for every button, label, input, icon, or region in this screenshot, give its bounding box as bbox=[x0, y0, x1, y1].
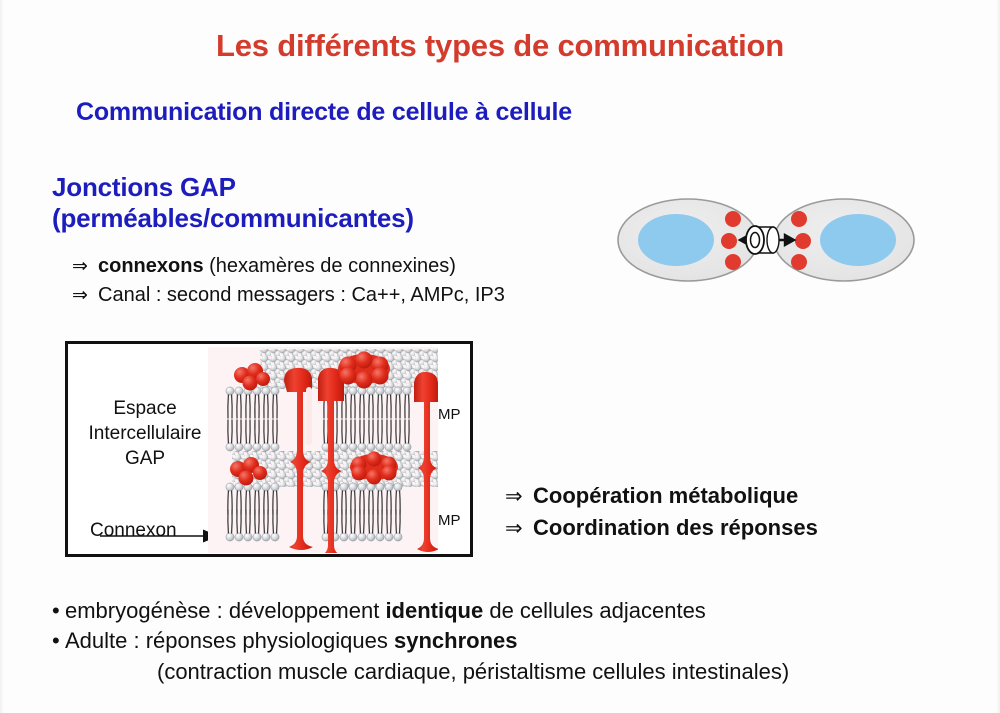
heading-line-2: (perméables/communicantes) bbox=[52, 203, 414, 234]
page-title: Les différents types de communication bbox=[0, 28, 1000, 64]
membrane-artwork-svg bbox=[208, 347, 438, 553]
page-edge-right bbox=[996, 0, 1000, 713]
gap-point-connexons: ⇒connexons (hexamères de connexines) bbox=[72, 252, 505, 281]
slide-canvas: Les différents types de communication Co… bbox=[0, 0, 1000, 713]
membrane-scene bbox=[208, 347, 438, 553]
nucleus-right bbox=[820, 214, 896, 266]
signal-molecule bbox=[721, 233, 737, 249]
bullet-icon: • bbox=[52, 626, 65, 656]
bottom-point-3: (contraction muscle cardiaque, péristalt… bbox=[52, 657, 789, 687]
signal-molecule bbox=[791, 211, 807, 227]
connexon-membrane-figure: Espace Intercellulaire GAP Connexon MP M… bbox=[65, 341, 473, 557]
conclusion-item: ⇒Coordination des réponses bbox=[505, 512, 818, 544]
nucleus-left bbox=[638, 214, 714, 266]
section-heading-jonctions-gap: Jonctions GAP (perméables/communicantes) bbox=[52, 172, 414, 233]
double-arrow-icon: ⇒ bbox=[505, 514, 533, 544]
bottom-point-1-post: de cellules adjacentes bbox=[483, 598, 706, 623]
gap-section-points: ⇒connexons (hexamères de connexines) ⇒Ca… bbox=[72, 252, 505, 310]
page-edge-left bbox=[0, 0, 4, 713]
bottom-point-embryogenese: •embryogénèse : développement identique … bbox=[52, 596, 789, 626]
page-subtitle: Communication directe de cellule à cellu… bbox=[76, 98, 572, 127]
bottom-point-2-bold: synchrones bbox=[394, 628, 518, 653]
mp-label-top: MP bbox=[438, 406, 461, 423]
bullet-icon: • bbox=[52, 596, 65, 626]
connexin-hexamer-top bbox=[338, 352, 390, 389]
signal-molecule bbox=[725, 211, 741, 227]
conclusions-list: ⇒Coopération métabolique ⇒Coordination d… bbox=[505, 480, 818, 545]
double-arrow-icon: ⇒ bbox=[505, 482, 533, 512]
two-cells-figure bbox=[616, 186, 916, 294]
double-arrow-icon: ⇒ bbox=[72, 254, 98, 281]
heading-line-1: Jonctions GAP bbox=[52, 172, 414, 203]
double-arrow-icon: ⇒ bbox=[72, 283, 98, 310]
gap-point-connexons-rest: (hexamères de connexines) bbox=[204, 255, 456, 277]
legend-line-1: Espace bbox=[80, 396, 210, 421]
conclusion-item: ⇒Coopération métabolique bbox=[505, 480, 818, 512]
connexon-label: Connexon bbox=[90, 520, 177, 542]
signal-molecule bbox=[795, 233, 811, 249]
gap-point-canal-text: Canal : second messagers : Ca++, AMPc, I… bbox=[98, 284, 505, 306]
gap-junction-channel-icon bbox=[746, 226, 779, 254]
bottom-point-1-pre: embryogénèse : développement bbox=[65, 598, 385, 623]
bottom-point-2-pre: Adulte : réponses physiologiques bbox=[65, 628, 394, 653]
membrane-artwork bbox=[208, 347, 438, 553]
mp-label-bottom: MP bbox=[438, 512, 461, 529]
channel-pore bbox=[306, 387, 312, 445]
signal-molecule bbox=[791, 254, 807, 270]
signal-molecule bbox=[725, 254, 741, 270]
cell-left bbox=[618, 199, 758, 281]
bottom-point-1-bold: identique bbox=[385, 598, 483, 623]
conclusion-text: Coopération métabolique bbox=[533, 483, 798, 508]
membrane-legend: Espace Intercellulaire GAP bbox=[80, 396, 210, 471]
conclusion-text: Coordination des réponses bbox=[533, 515, 818, 540]
gap-point-connexons-bold: connexons bbox=[98, 255, 204, 277]
bottom-points: •embryogénèse : développement identique … bbox=[52, 596, 789, 687]
legend-line-2: Intercellulaire bbox=[80, 421, 210, 446]
gap-point-canal: ⇒Canal : second messagers : Ca++, AMPc, … bbox=[72, 281, 505, 310]
two-cells-svg bbox=[616, 186, 916, 294]
legend-line-3: GAP bbox=[80, 446, 210, 471]
bottom-point-adulte: •Adulte : réponses physiologiques synchr… bbox=[52, 626, 789, 656]
